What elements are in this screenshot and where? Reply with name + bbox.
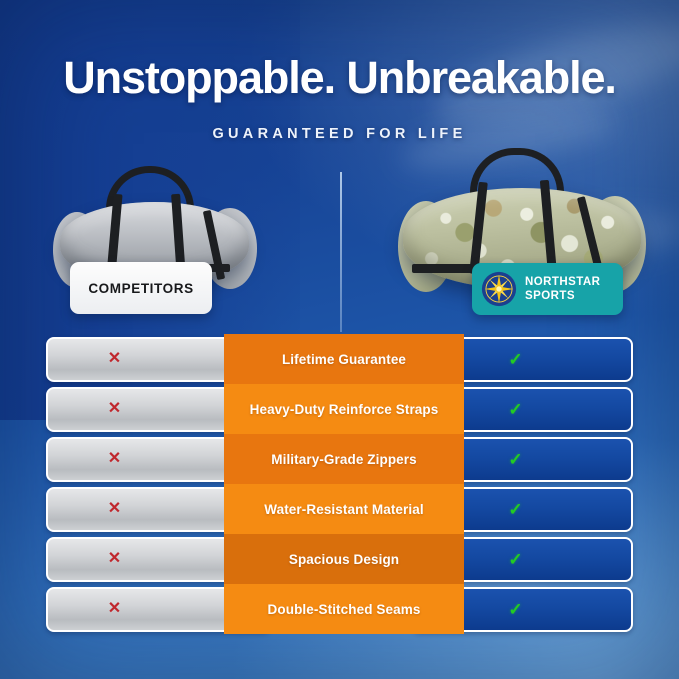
feature-label: Double-Stitched Seams <box>224 584 464 634</box>
feature-label: Heavy-Duty Reinforce Straps <box>224 384 464 434</box>
check-icon: ✓ <box>508 501 522 518</box>
check-icon: ✓ <box>508 551 522 568</box>
feature-label: Spacious Design <box>224 534 464 584</box>
feature-label: Lifetime Guarantee <box>224 334 464 384</box>
brand-name: NORTHSTAR SPORTS <box>525 275 600 303</box>
cross-icon: ✕ <box>108 601 121 617</box>
feature-label-column: Lifetime GuaranteeHeavy-Duty Reinforce S… <box>224 334 464 634</box>
cross-icon: ✕ <box>108 401 121 417</box>
check-icon: ✓ <box>508 451 522 468</box>
check-icon: ✓ <box>508 401 522 418</box>
competitors-label: COMPETITORS <box>70 262 212 314</box>
check-icon: ✓ <box>508 351 522 368</box>
northstar-brand-badge: NORTHSTAR SPORTS <box>472 263 623 315</box>
column-divider <box>340 172 342 332</box>
brand-name-line2: SPORTS <box>525 289 600 303</box>
cross-icon: ✕ <box>108 351 121 367</box>
feature-label: Water-Resistant Material <box>224 484 464 534</box>
feature-label: Military-Grade Zippers <box>224 434 464 484</box>
brand-name-line1: NORTHSTAR <box>525 275 600 289</box>
cross-icon: ✕ <box>108 451 121 467</box>
check-icon: ✓ <box>508 601 522 618</box>
compass-star-logo <box>481 271 517 307</box>
cross-icon: ✕ <box>108 551 121 567</box>
page-subheadline: GUARANTEED FOR LIFE <box>0 126 679 142</box>
cross-icon: ✕ <box>108 501 121 517</box>
page-headline: Unstoppable. Unbreakable. <box>0 52 679 104</box>
infographic-canvas: Unstoppable. Unbreakable. GUARANTEED FOR… <box>0 0 679 679</box>
